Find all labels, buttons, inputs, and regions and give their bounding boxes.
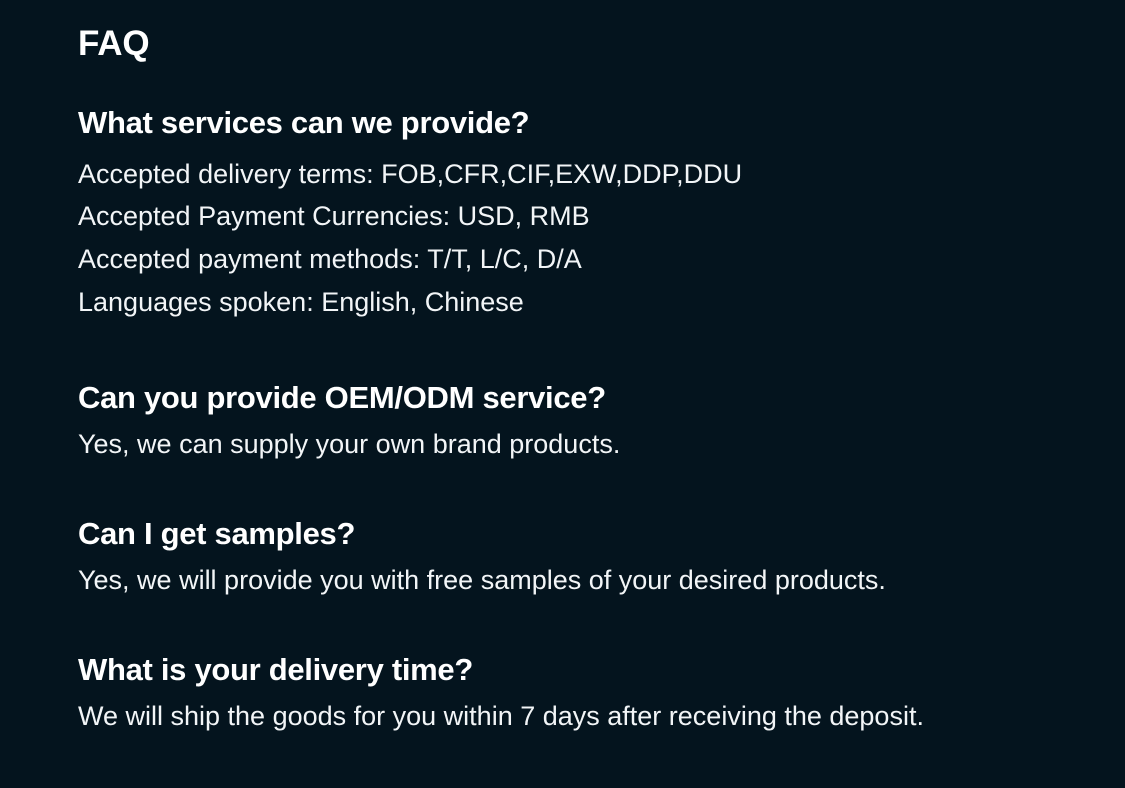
faq-question: Can I get samples?: [78, 518, 1125, 551]
faq-answer-line: Languages spoken: English, Chinese: [78, 281, 1125, 324]
faq-item: What services can we provide?Accepted de…: [78, 107, 1125, 324]
faq-answer-line: Yes, we can supply your own brand produc…: [78, 428, 1125, 460]
faq-item: What is your delivery time?We will ship …: [78, 654, 1125, 732]
faq-question: Can you provide OEM/ODM service?: [78, 382, 1125, 415]
faq-answer-line: Yes, we will provide you with free sampl…: [78, 564, 1125, 596]
faq-answer-line: Accepted payment methods: T/T, L/C, D/A: [78, 238, 1125, 281]
faq-question: What is your delivery time?: [78, 654, 1125, 687]
faq-answer: Accepted delivery terms: FOB,CFR,CIF,EXW…: [78, 153, 1125, 325]
faq-answer-line: We will ship the goods for you within 7 …: [78, 700, 1125, 732]
faq-page: FAQ What services can we provide?Accepte…: [0, 0, 1125, 788]
faq-answer: We will ship the goods for you within 7 …: [78, 700, 1125, 732]
faq-answer-line: Accepted Payment Currencies: USD, RMB: [78, 195, 1125, 238]
faq-question: What services can we provide?: [78, 107, 1125, 140]
faq-item: Can I get samples?Yes, we will provide y…: [78, 518, 1125, 596]
faq-answer-line: Accepted delivery terms: FOB,CFR,CIF,EXW…: [78, 153, 1125, 196]
faq-answer: Yes, we can supply your own brand produc…: [78, 428, 1125, 460]
faq-answer: Yes, we will provide you with free sampl…: [78, 564, 1125, 596]
faq-list: What services can we provide?Accepted de…: [78, 107, 1125, 732]
faq-item: Can you provide OEM/ODM service?Yes, we …: [78, 382, 1125, 460]
page-title: FAQ: [78, 26, 1125, 61]
